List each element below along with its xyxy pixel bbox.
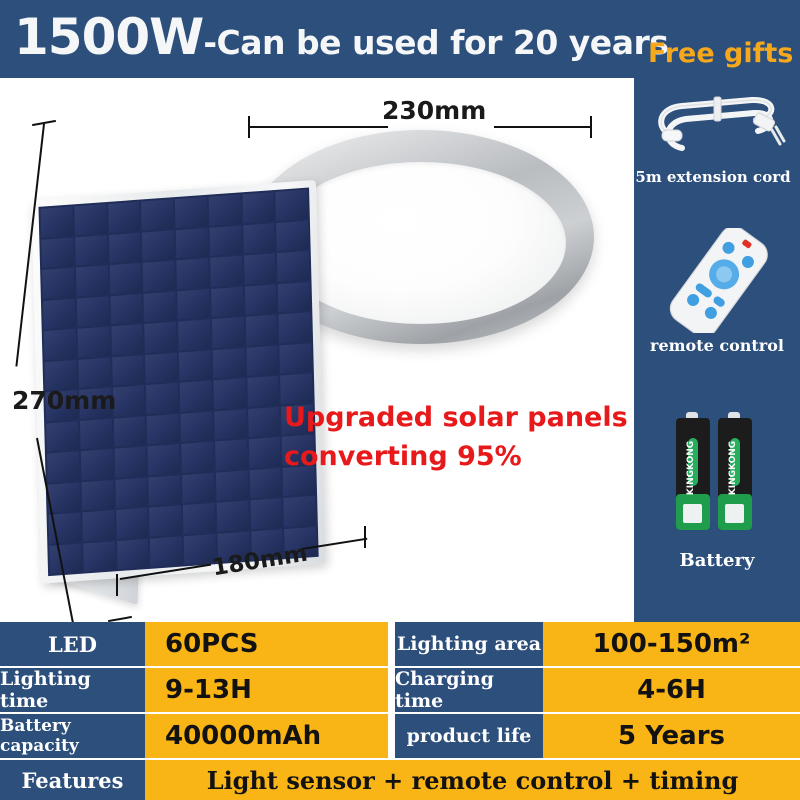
solar-cell [180,411,212,442]
header-subtitle: -Can be used for 20 years [203,23,668,62]
table-row: Battery capacity 40000mAh product life 5… [0,714,800,758]
solar-cell [278,281,310,312]
battery-svg: KINGKONG KINGKONG [670,408,762,538]
solar-cell [44,329,76,360]
solar-cell [284,496,316,527]
upgrade-annotation: Upgraded solar panels converting 95% [284,398,628,476]
solar-cell [214,409,246,440]
solar-cell [82,510,114,541]
table-row-features: Features Light sensor + remote control +… [0,760,800,800]
solar-cell [276,220,308,251]
solar-cell [41,206,73,237]
spec-value-led: 60PCS [145,622,388,666]
solar-cell [76,296,108,327]
upgrade-annotation-line2: converting 95% [284,437,628,476]
solar-cell [150,536,182,567]
solar-cell [209,225,241,256]
solar-cell [48,482,80,513]
solar-cell [147,413,179,444]
solar-cell [248,406,280,437]
solar-cell [113,416,145,447]
product-infographic: 1500W-Can be used for 20 years Free gift… [0,0,800,800]
solar-cell [216,470,248,501]
spec-label-features: Features [0,760,145,800]
solar-cell [141,199,173,230]
solar-cell [180,380,212,411]
remote-control-icon [650,228,790,333]
solar-cell [114,447,146,478]
solar-cell [213,378,245,409]
solar-cell [144,322,176,353]
width-dimension-label: 230mm [382,96,486,125]
solar-cell [211,286,243,317]
solar-cell [145,352,177,383]
spec-value-product-life: 5 Years [543,714,800,758]
solar-cell [111,324,143,355]
solar-panel-frame [31,180,326,584]
solar-cell [250,498,282,529]
solar-cell [212,347,244,378]
header-title: 1500W-Can be used for 20 years [14,8,668,66]
solar-cell [277,251,309,282]
extension-cord-svg [648,86,788,164]
solar-cell [176,258,208,289]
remote-control-svg [650,228,790,333]
solar-cell [183,503,215,534]
solar-cell [208,194,240,225]
solar-cell [210,256,242,287]
solar-cell [42,268,74,299]
solar-cell [246,345,278,376]
solar-cell [80,418,112,449]
solar-cell [43,298,75,329]
solar-cell [108,232,140,263]
extension-cord-icon [648,86,788,164]
solar-cell [112,385,144,416]
solar-cell [116,508,148,539]
solar-cell [148,475,180,506]
spec-label-charging-time: Charging time [395,668,543,712]
solar-cell [248,437,280,468]
solar-cell [182,472,214,503]
spec-value-lighting-area: 100-150m² [543,622,800,666]
free-gifts-panel: 5m extension cord remote control [634,78,800,622]
solar-cell [280,343,312,374]
svg-text:KINGKONG: KINGKONG [728,441,738,495]
spec-value-battery-capacity: 40000mAh [145,714,388,758]
spec-label-lighting-time: Lighting time [0,668,145,712]
header-banner: 1500W-Can be used for 20 years Free gift… [0,0,800,78]
solar-cell [247,376,279,407]
solar-cell [244,284,276,315]
solar-cell [109,263,141,294]
solar-cell [108,202,140,233]
solar-cell [115,477,147,508]
upgrade-annotation-line1: Upgraded solar panels [284,398,628,437]
battery-cell-2: KINGKONG [718,412,752,530]
solar-cell [279,312,311,343]
solar-cell [75,235,107,266]
solar-cell [212,317,244,348]
solar-cell [74,204,106,235]
free-gifts-label: Free gifts [648,38,793,69]
solar-panel-icon [15,174,357,595]
spec-label-product-life: product life [395,714,543,758]
spec-value-charging-time: 4-6H [543,668,800,712]
solar-cell [110,293,142,324]
extension-cord-label: 5m extension cord [634,168,796,186]
solar-cell [176,227,208,258]
solar-cell [144,291,176,322]
spec-value-features: Light sensor + remote control + timing [145,760,800,800]
solar-cell [242,192,274,223]
solar-cell [178,319,210,350]
solar-cell [81,480,113,511]
solar-cell [179,350,211,381]
product-stage: 230mm 270mm 180mm [0,78,634,622]
solar-cell [243,223,275,254]
solar-cell [47,451,79,482]
solar-cell [41,237,73,268]
solar-cell [83,541,115,572]
solar-cell [142,230,174,261]
solar-cell [244,253,276,284]
solar-cell [76,265,108,296]
spec-label-battery-capacity: Battery capacity [0,714,145,758]
solar-cell [216,501,248,532]
battery-icon: KINGKONG KINGKONG [670,408,762,538]
table-row: Lighting time 9-13H Charging time 4-6H [0,668,800,712]
header-wattage: 1500W [14,8,203,66]
solar-cell [49,543,81,574]
table-row: LED 60PCS Lighting area 100-150m² [0,622,800,666]
battery-cell-1: KINGKONG [676,412,710,530]
solar-cell [276,190,308,221]
solar-cell [143,260,175,291]
remote-control-label: remote control [634,336,800,355]
solar-cell [249,468,281,499]
solar-cell [177,289,209,320]
battery-label: Battery [634,550,800,571]
spec-label-led: LED [0,622,145,666]
solar-cell [148,444,180,475]
solar-cell [116,538,148,569]
solar-cell [46,421,78,452]
spec-table: LED 60PCS Lighting area 100-150m² Lighti… [0,622,800,800]
solar-cell [78,357,110,388]
svg-text:KINGKONG: KINGKONG [686,441,696,495]
spec-label-lighting-area: Lighting area [395,622,543,666]
solar-cell [181,442,213,473]
spec-value-lighting-time: 9-13H [145,668,388,712]
height-dimension-label: 270mm [12,386,116,415]
solar-cell [77,326,109,357]
solar-cell [175,197,207,228]
solar-cell [146,383,178,414]
solar-cell [149,505,181,536]
solar-cell [245,314,277,345]
solar-panel-cells [38,188,318,577]
solar-cell [112,355,144,386]
solar-cell [81,449,113,480]
solar-cell [215,439,247,470]
